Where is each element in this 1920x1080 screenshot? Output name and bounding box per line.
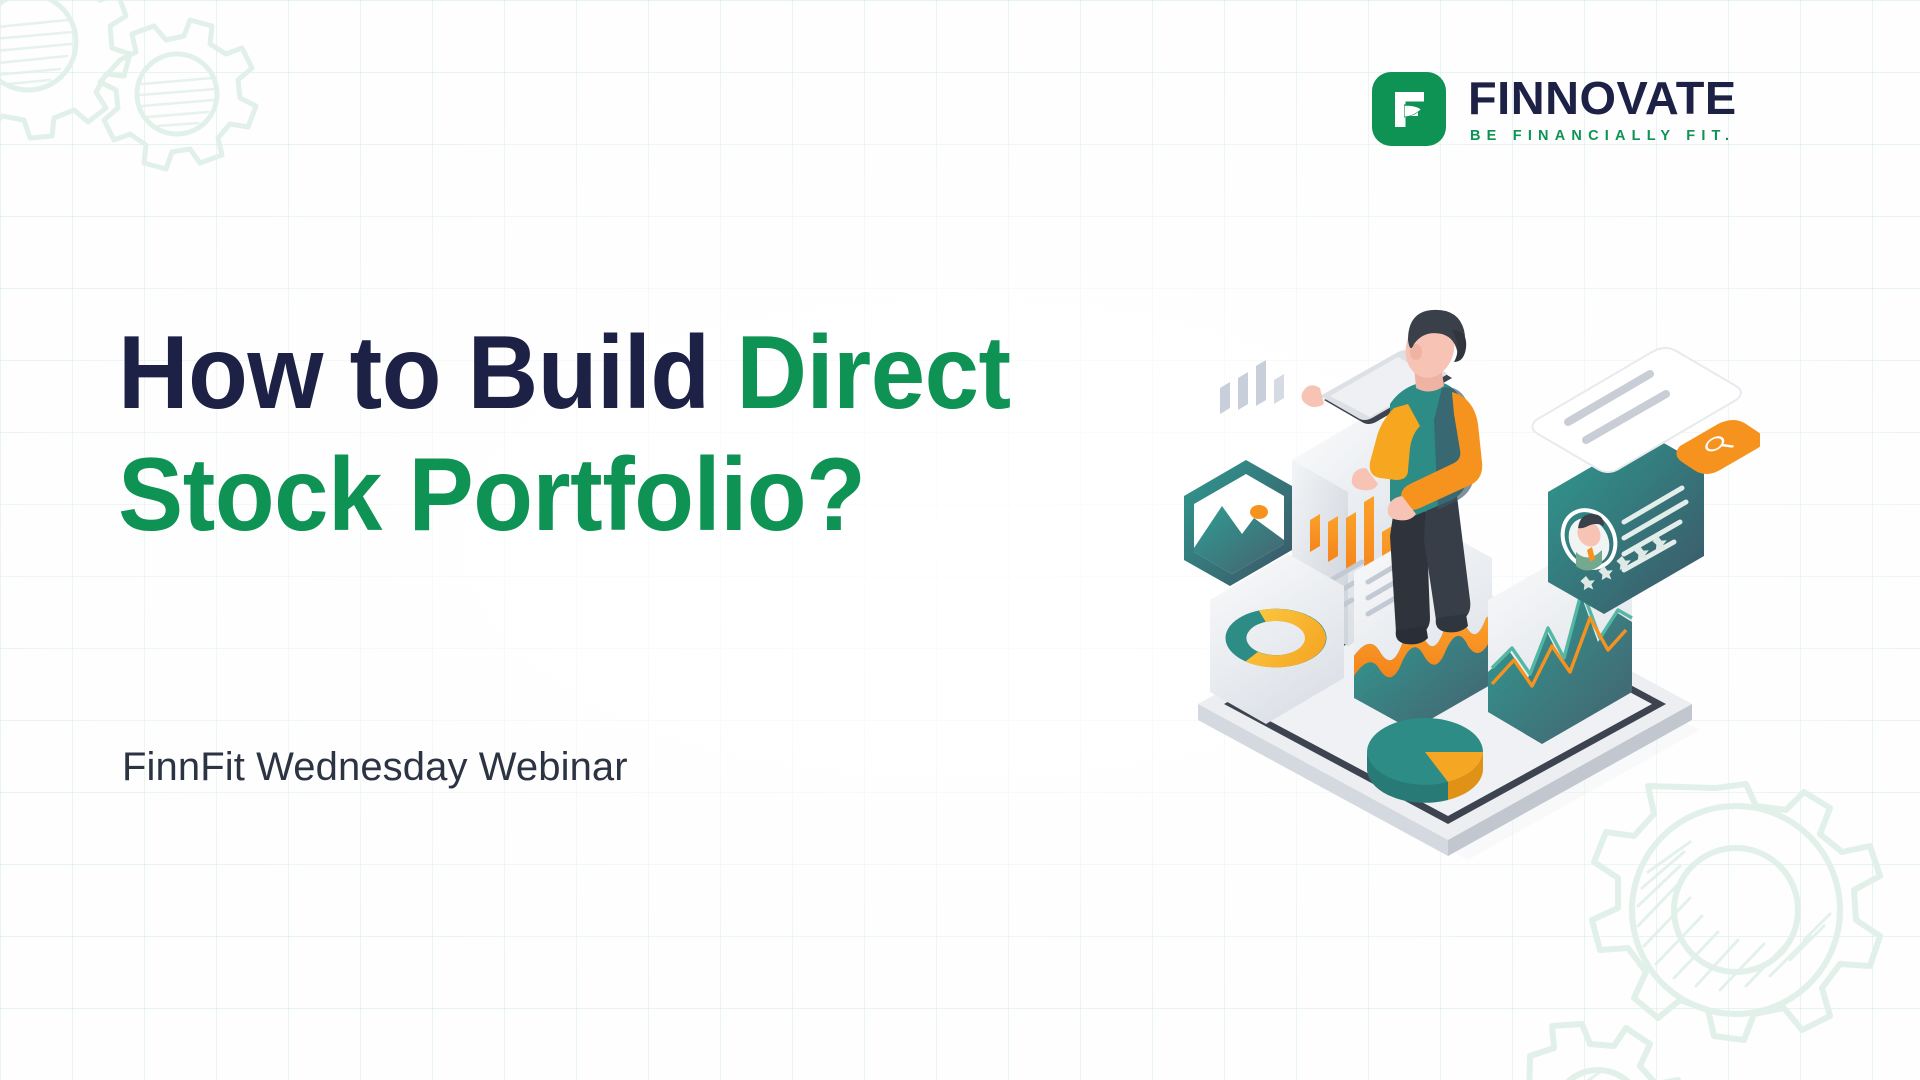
headline-dark-text: How to Build	[118, 315, 736, 431]
page-title: How to Build Direct Stock Portfolio?	[118, 313, 1096, 556]
brand-name: FINNOVATE	[1468, 75, 1741, 121]
brand-logo[interactable]: FINNOVATE BE FINANCIALLY FIT.	[1372, 72, 1735, 146]
illustration-svg	[1180, 300, 1760, 860]
brand-tagline: BE FINANCIALLY FIT.	[1470, 129, 1735, 144]
floating-bars	[1220, 360, 1284, 414]
stylized-f-leaf-icon	[1385, 85, 1433, 133]
subtitle: FinnFit Wednesday Webinar	[122, 745, 628, 790]
headline-line-1: How to Build Direct	[118, 313, 1096, 435]
finnovate-mark-icon	[1372, 72, 1446, 146]
isometric-finance-dashboard-illustration	[1180, 300, 1760, 860]
webinar-slide: FINNOVATE BE FINANCIALLY FIT. How to Bui…	[0, 0, 1920, 1080]
pie-chart-3d	[1367, 718, 1483, 803]
brand-logo-text: FINNOVATE BE FINANCIALLY FIT.	[1468, 75, 1735, 144]
headline-line-2: Stock Portfolio?	[118, 435, 1096, 557]
headline-green-text-1: Direct	[736, 315, 1010, 431]
gear-sketch-icon	[0, 0, 288, 272]
